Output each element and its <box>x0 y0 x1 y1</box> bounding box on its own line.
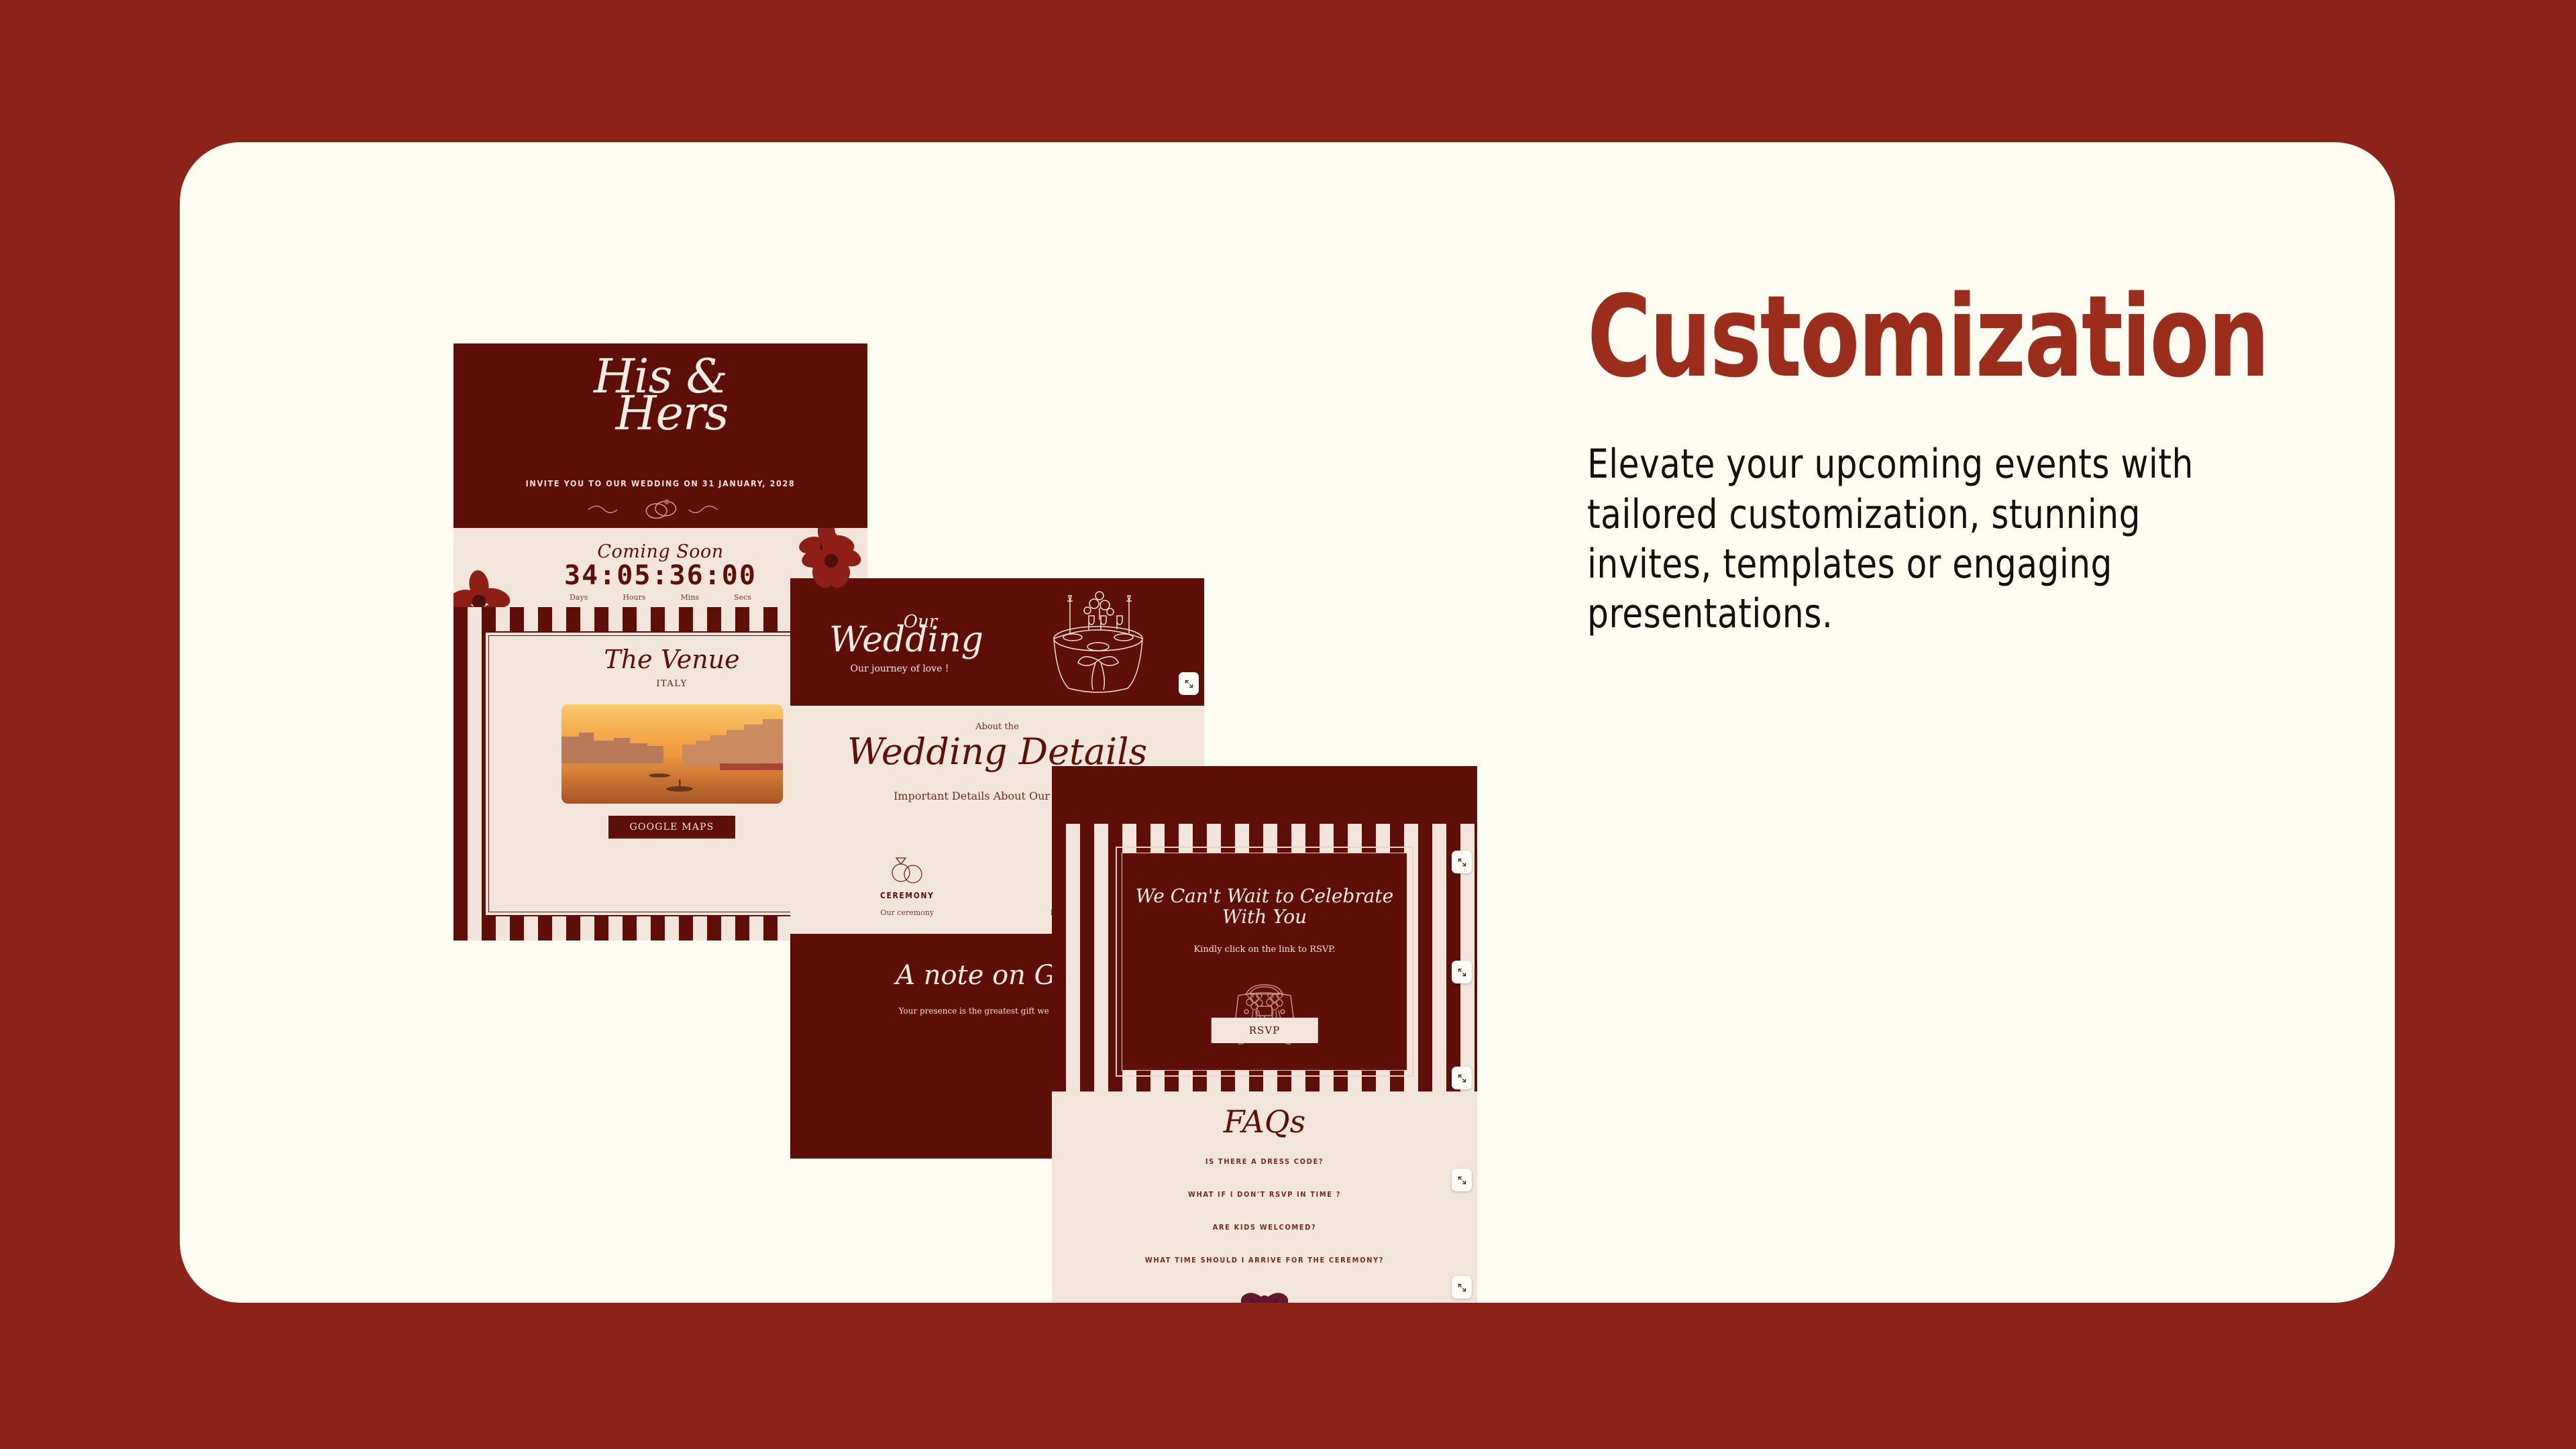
faq-title: FAQs <box>1052 1106 1477 1137</box>
rings-ornament-icon <box>453 496 867 521</box>
couple-monogram: His & Hers <box>453 358 867 431</box>
card3-faq-section: FAQs IS THERE A DRESS CODE? WHAT IF I DO… <box>1052 1091 1477 1303</box>
reception-table-icon <box>1031 588 1165 702</box>
countdown-label-hours: Hours <box>623 593 645 602</box>
page-title: Customization <box>1587 283 2210 391</box>
countdown-label-secs: Secs <box>734 593 751 602</box>
faq-item[interactable]: WHAT IF I DON'T RSVP IN TIME ? <box>1052 1190 1477 1199</box>
card1-hero-section: His & Hers INVITE YOU TO OUR WEDDING ON … <box>453 343 867 528</box>
our-wedding-tagline: Our journey of love ! <box>829 663 970 674</box>
mockup-card-rsvp[interactable]: We Can't Wait to Celebrate With You Kind… <box>1052 766 1477 1303</box>
page-description: Elevate your upcoming events with tailor… <box>1587 439 2261 639</box>
copy-block: Customization Elevate your upcoming even… <box>1587 283 2312 639</box>
rsvp-subtext: Kindly click on the link to RSVP. <box>1122 945 1407 955</box>
details-text-ceremony: Our ceremony <box>817 908 998 917</box>
rsvp-frame: We Can't Wait to Celebrate With You Kind… <box>1116 847 1413 1077</box>
card2-hero-section: Our Wedding Our journey of love ! <box>790 578 1204 706</box>
monogram-line2: Hers <box>453 395 867 432</box>
details-heading-ceremony: CEREMONY <box>817 891 998 900</box>
our-wedding-line2: Wedding <box>829 624 970 657</box>
slide-canvas: His & Hers INVITE YOU TO OUR WEDDING ON … <box>0 0 2576 1449</box>
google-maps-button[interactable]: GOOGLE MAPS <box>608 816 736 839</box>
expand-collapse-icon[interactable] <box>1452 1169 1472 1191</box>
our-wedding-title: Our Wedding Our journey of love ! <box>829 613 970 674</box>
countdown-heading: Coming Soon <box>453 541 867 562</box>
expand-collapse-icon[interactable] <box>1452 851 1472 873</box>
faq-item[interactable]: ARE KIDS WELCOMED? <box>1052 1223 1477 1232</box>
faq-item[interactable]: WHAT TIME SHOULD I ARRIVE FOR THE CEREMO… <box>1052 1256 1477 1265</box>
expand-collapse-icon[interactable] <box>1452 961 1472 983</box>
expand-collapse-icon[interactable] <box>1452 1276 1472 1299</box>
content-panel: His & Hers INVITE YOU TO OUR WEDDING ON … <box>180 142 2395 1303</box>
countdown-label-mins: Mins <box>681 593 700 602</box>
invite-line: INVITE YOU TO OUR WEDDING ON 31 JANUARY,… <box>453 478 867 488</box>
rsvp-heading: We Can't Wait to Celebrate With You <box>1129 885 1400 928</box>
card3-rsvp-section: We Can't Wait to Celebrate With You Kind… <box>1052 766 1477 1091</box>
details-title: Wedding Details <box>790 734 1204 770</box>
venue-photo <box>561 704 783 804</box>
countdown-label-days: Days <box>570 593 588 602</box>
details-column-ceremony: CEREMONY Our ceremony <box>817 852 998 917</box>
countdown-labels: Days Hours Mins Secs <box>570 593 751 602</box>
expand-collapse-icon[interactable] <box>1452 1067 1472 1089</box>
rsvp-button[interactable]: RSVP <box>1212 1018 1318 1043</box>
ribbon-bow-icon <box>1052 1283 1477 1303</box>
faq-list: IS THERE A DRESS CODE? WHAT IF I DON'T R… <box>1052 1157 1477 1289</box>
faq-item[interactable]: IS THERE A DRESS CODE? <box>1052 1157 1477 1166</box>
expand-collapse-icon[interactable] <box>1179 672 1199 695</box>
wedding-rings-icon <box>817 852 998 887</box>
